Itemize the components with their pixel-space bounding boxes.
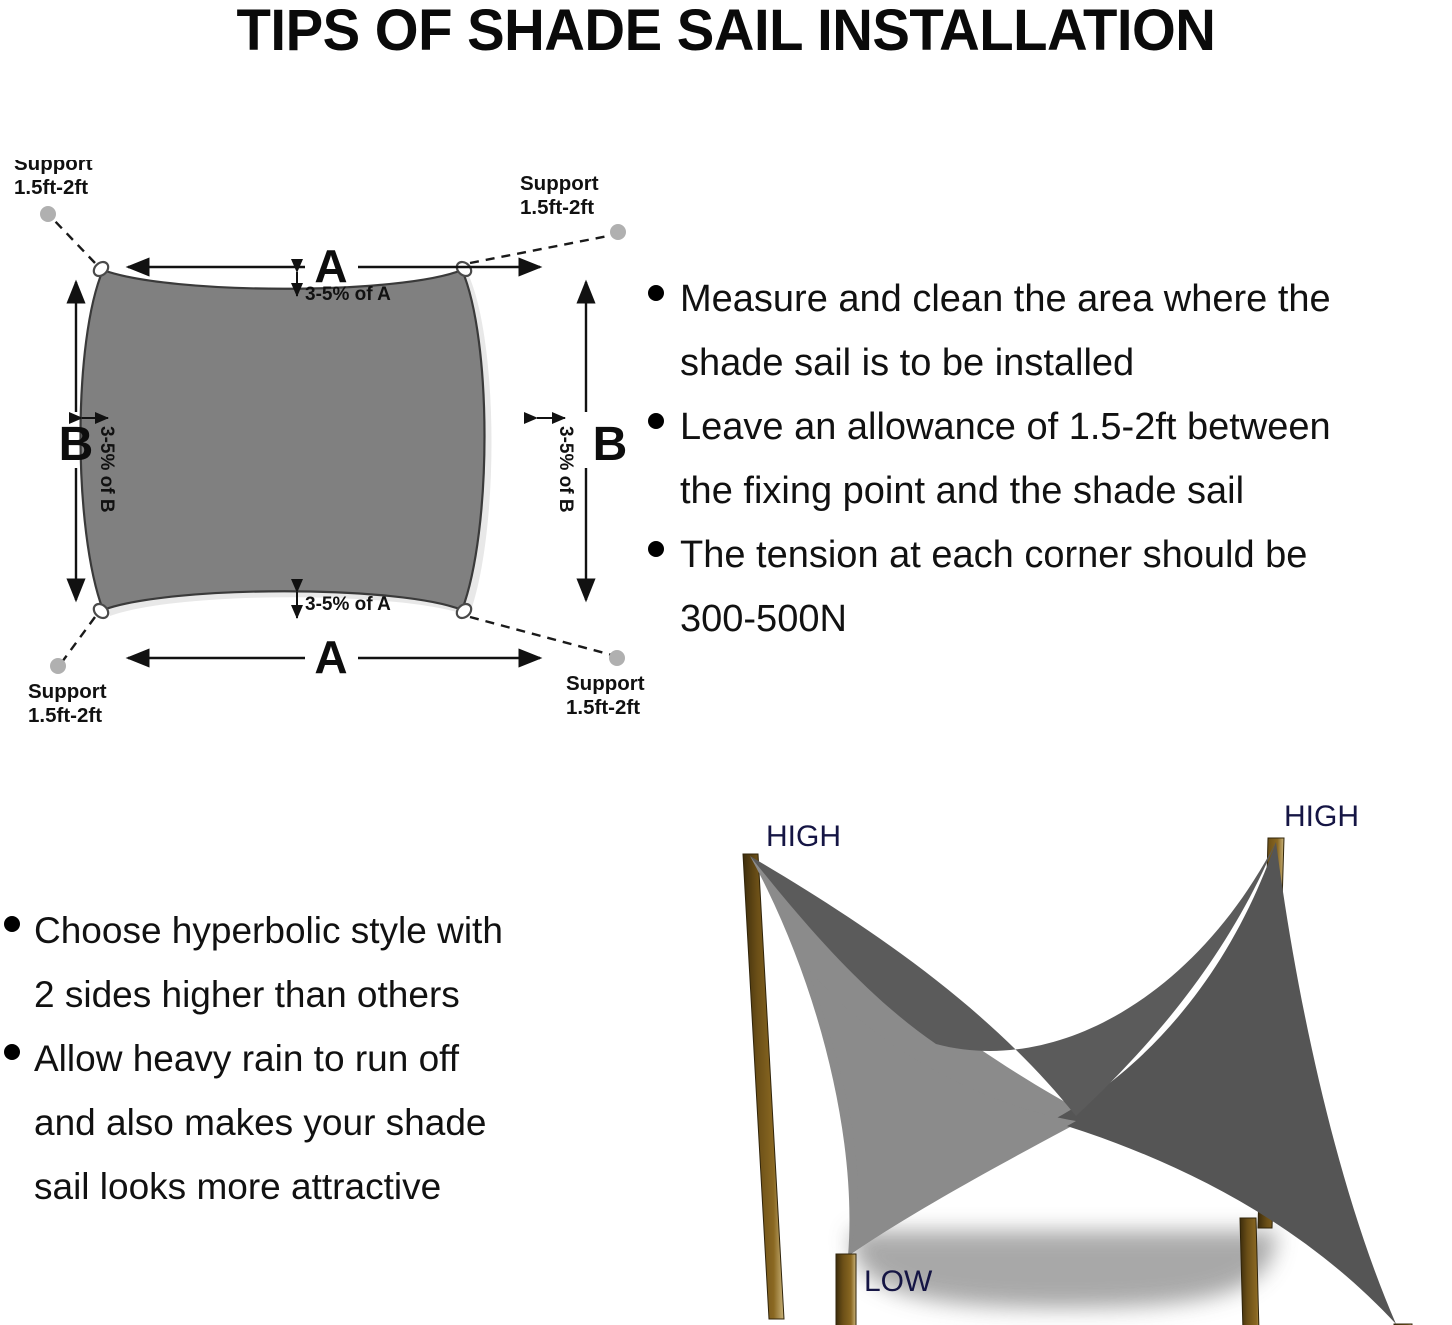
- bullet-spacer: [648, 477, 664, 493]
- bullet-dot-icon: [648, 541, 664, 557]
- support-label-bottom-right-line1: Support: [566, 672, 645, 695]
- tip-text: Choose hyperbolic style with: [34, 900, 503, 962]
- dimension-label-b-right: B: [593, 418, 628, 471]
- support-label-bottom-left-line2: 1.5ft-2ft: [28, 704, 102, 727]
- tip-text: Measure and clean the area where the: [680, 268, 1331, 330]
- label-high-left: HIGH: [766, 820, 841, 853]
- shade-sail-shape: [81, 270, 485, 610]
- support-label-top-right-line2: 1.5ft-2ft: [520, 196, 594, 219]
- list-item: and also makes your shade: [4, 1092, 624, 1154]
- tip-text: Leave an allowance of 1.5-2ft between: [680, 396, 1331, 458]
- tip-text: and also makes your shade: [34, 1092, 487, 1154]
- tip-text: 2 sides higher than others: [34, 964, 460, 1026]
- list-item: Allow heavy rain to run off: [4, 1028, 624, 1090]
- list-item: The tension at each corner should be: [648, 524, 1452, 586]
- support-dot-bottom-left: [50, 658, 66, 674]
- curve-depth-label-bottom: 3-5% of A: [305, 594, 391, 615]
- tip-text: the fixing point and the shade sail: [680, 460, 1244, 522]
- support-label-top-left-line1: Support: [14, 160, 93, 175]
- page-title: TIPS OF SHADE SAIL INSTALLATION: [22, 0, 1430, 62]
- list-item: Choose hyperbolic style with: [4, 900, 624, 962]
- label-low-left: LOW: [864, 1265, 933, 1298]
- tip-text: Allow heavy rain to run off: [34, 1028, 459, 1090]
- hyperbolic-sail-diagram: HIGH HIGH LOW LOW: [636, 786, 1452, 1325]
- post-low-left-body: [836, 1254, 856, 1325]
- bullet-dot-icon: [648, 285, 664, 301]
- bullet-dot-icon: [4, 1044, 20, 1060]
- support-label-top-left-line2: 1.5ft-2ft: [14, 176, 88, 199]
- list-item: shade sail is to be installed: [648, 332, 1452, 394]
- bullet-dot-icon: [648, 413, 664, 429]
- post-high-left: [743, 854, 784, 1319]
- tip-text: sail looks more attractive: [34, 1156, 441, 1218]
- bullet-spacer: [4, 980, 20, 996]
- installation-tips-list: Measure and clean the area where the sha…: [648, 268, 1452, 652]
- support-dot-top-left: [40, 206, 56, 222]
- bullet-spacer: [648, 605, 664, 621]
- infographic-page: TIPS OF SHADE SAIL INSTALLATION: [0, 0, 1452, 1325]
- support-label-bottom-right-line2: 1.5ft-2ft: [566, 696, 640, 719]
- curve-depth-label-right: 3-5% of B: [555, 426, 576, 513]
- tip-text: The tension at each corner should be: [680, 524, 1307, 586]
- curve-depth-label-left: 3-5% of B: [96, 426, 117, 513]
- list-item: Measure and clean the area where the: [648, 268, 1452, 330]
- support-label-top-right-line1: Support: [520, 172, 599, 195]
- list-item: the fixing point and the shade sail: [648, 460, 1452, 522]
- list-item: 300-500N: [648, 588, 1452, 650]
- list-item: Leave an allowance of 1.5-2ft between: [648, 396, 1452, 458]
- list-item: 2 sides higher than others: [4, 964, 624, 1026]
- support-dot-top-right: [610, 224, 626, 240]
- rectangular-sail-diagram: Support 1.5ft-2ft Support 1.5ft-2ft Supp…: [0, 160, 650, 740]
- hyperbolic-style-tips-list: Choose hyperbolic style with 2 sides hig…: [4, 900, 624, 1220]
- bullet-dot-icon: [4, 916, 20, 932]
- tip-text: 300-500N: [680, 588, 847, 650]
- label-high-right: HIGH: [1284, 800, 1359, 833]
- support-dot-bottom-right: [609, 650, 625, 666]
- bullet-spacer: [4, 1172, 20, 1188]
- dimension-label-b-left: B: [59, 418, 94, 471]
- bullet-spacer: [648, 349, 664, 365]
- dimension-label-a-bottom: A: [314, 631, 347, 683]
- bullet-spacer: [4, 1108, 20, 1124]
- list-item: sail looks more attractive: [4, 1156, 624, 1218]
- curve-depth-label-top: 3-5% of A: [305, 284, 391, 305]
- tip-text: shade sail is to be installed: [680, 332, 1134, 394]
- support-label-bottom-left-line1: Support: [28, 680, 107, 703]
